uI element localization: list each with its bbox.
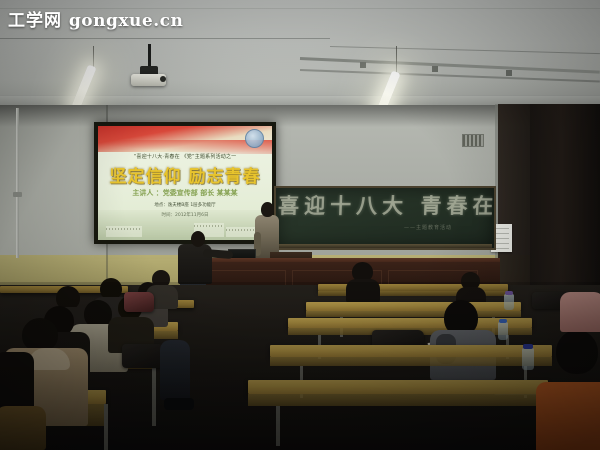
rail-clip: [360, 62, 366, 68]
watermark-cn: 工学网: [8, 11, 62, 31]
desk-leg: [276, 406, 280, 446]
blackboard-chalk-subtitle: ——主题教育活动: [404, 224, 492, 231]
student-body: [346, 279, 380, 303]
water-bottle: [504, 294, 514, 310]
watermark-latin: gongxue.cn: [69, 11, 183, 31]
water-bottle: [498, 322, 508, 340]
bottle-cap: [499, 319, 507, 323]
desk-leg: [152, 366, 156, 426]
backpack-red: [124, 292, 154, 312]
student-jacket-orange: [536, 382, 600, 450]
desk-side: [270, 357, 552, 366]
wall-vent-grille: [462, 134, 484, 147]
light-wire: [93, 46, 94, 68]
desk-row: [248, 380, 548, 394]
desk-row: [270, 345, 552, 357]
student-head: [556, 330, 598, 374]
backpack: [122, 344, 164, 368]
student-arm: [560, 292, 600, 332]
doorway-dark: [530, 104, 600, 299]
presenter-head: [261, 202, 274, 217]
student-hood: [28, 348, 70, 370]
bottle-cap: [523, 344, 533, 349]
slide-emblem-icon: [245, 129, 264, 148]
slide-speaker-line: 主讲人 ：党委宣传部 部长 某某某: [98, 188, 272, 198]
assistant-head: [191, 231, 205, 247]
ceiling-seam: [0, 38, 330, 39]
wall-pipe: [16, 108, 19, 258]
bottle-cap: [505, 291, 513, 295]
desk-side: [248, 394, 548, 406]
rail-clip: [506, 70, 512, 76]
student-shoe: [164, 398, 194, 410]
slide-campus-photo: [98, 210, 272, 240]
projection-screen: “喜迎十八大·青春在 《党”主题系列活动之一 坚定信仰 励志青春 主讲人 ：党委…: [98, 126, 272, 240]
slide-subtitle: “喜迎十八大·青春在 《党”主题系列活动之一: [98, 153, 272, 160]
lecture-hall-photo: “喜迎十八大·青春在 《党”主题系列活动之一 坚定信仰 励志青春 主讲人 ：党委…: [0, 0, 600, 450]
slide-place-line: 地点：逸夫楼B座 1层多功能厅: [98, 202, 272, 208]
campus-building: [106, 226, 142, 237]
chalk-tray: [274, 244, 492, 248]
slide-place-label: 地点：: [154, 203, 168, 208]
desk-row: [306, 302, 521, 311]
desk-leg: [104, 404, 108, 450]
desk-row: [288, 318, 532, 328]
watermark: 工学网 gongxue.cn: [8, 6, 183, 31]
slide-place-value: 逸夫楼B座 1层多功能厅: [168, 203, 216, 208]
water-bottle: [522, 348, 534, 370]
student-sleeve: [0, 406, 46, 450]
slide-title: 坚定信仰 励志青春: [98, 162, 272, 187]
light-wire: [396, 46, 397, 74]
dark-curtain: [498, 104, 532, 299]
student-head: [22, 318, 58, 352]
student-legs: [160, 340, 190, 400]
pipe-clip: [13, 192, 22, 197]
projector-lens: [160, 76, 166, 82]
desk-side: [306, 311, 521, 317]
rail-clip: [432, 66, 438, 72]
